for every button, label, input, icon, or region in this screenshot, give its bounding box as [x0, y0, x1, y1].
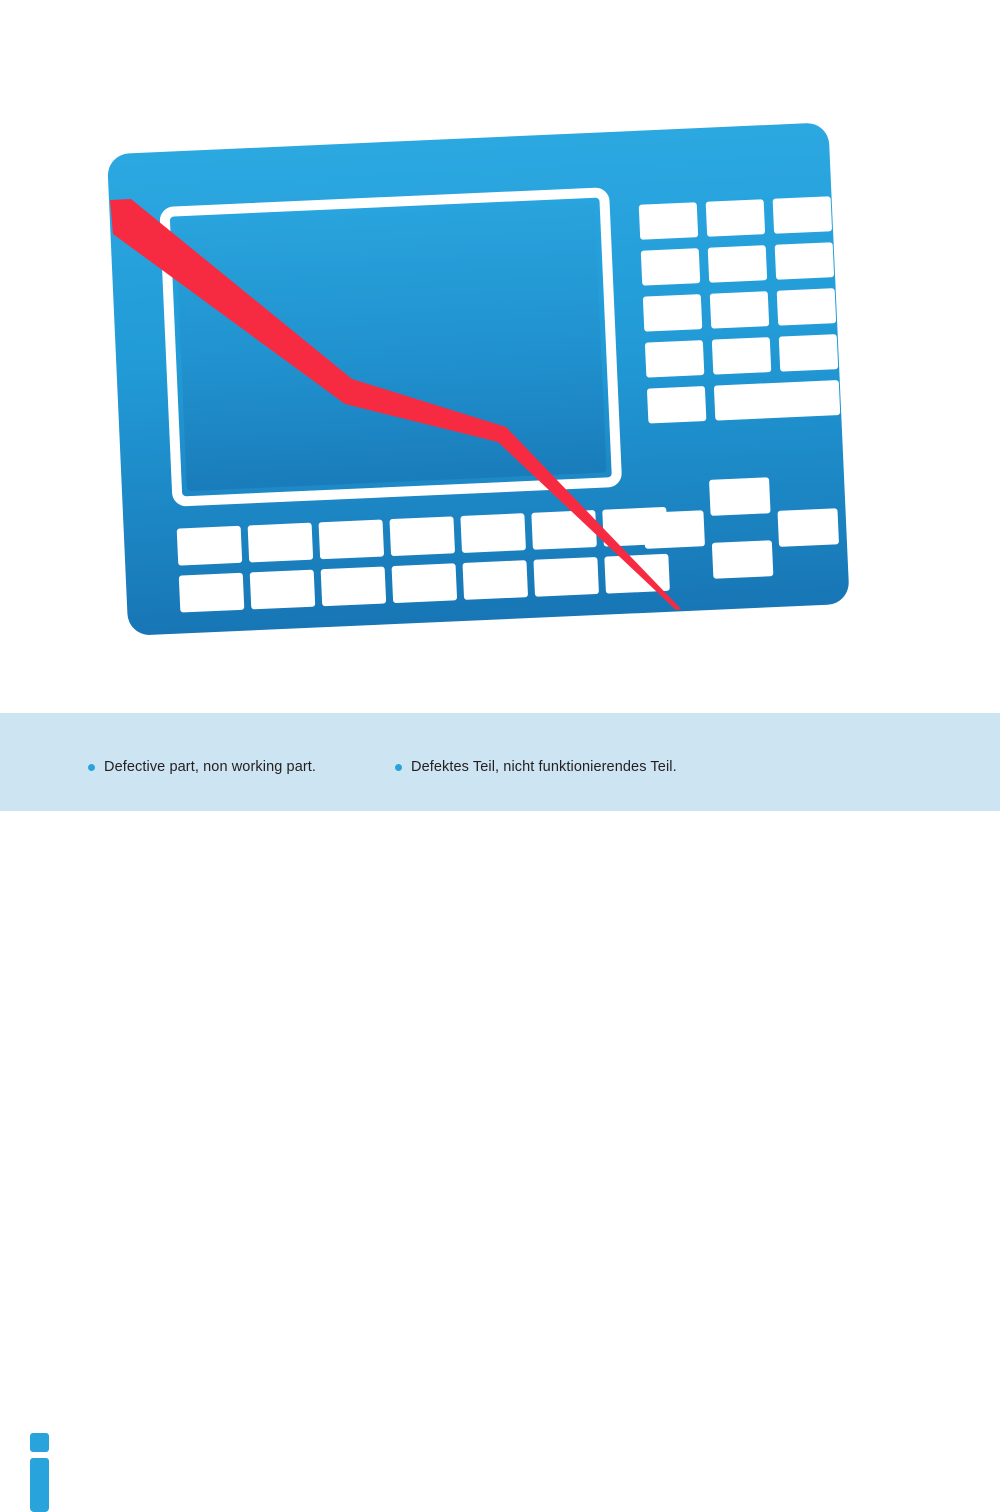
bullet-icon — [395, 764, 402, 771]
device-illustration — [0, 0, 1000, 713]
keyboard-key[interactable] — [389, 516, 455, 556]
note-text-de: Defektes Teil, nicht funktionierendes Te… — [411, 760, 677, 775]
arrow-up-key[interactable] — [709, 477, 771, 516]
arrow-right-key[interactable] — [777, 508, 839, 547]
bullet-icon — [88, 764, 95, 771]
keyboard-key[interactable] — [319, 519, 385, 559]
note-text-en: Defective part, non working part. — [104, 760, 316, 775]
keyboard-key[interactable] — [250, 570, 316, 610]
info-icon-dot — [30, 1433, 49, 1452]
keyboard-key[interactable] — [533, 557, 599, 597]
keyboard-key[interactable] — [177, 526, 243, 566]
keypad-key[interactable] — [645, 340, 704, 378]
keypad-key[interactable] — [773, 196, 832, 234]
note-item-en: Defective part, non working part. — [88, 760, 316, 775]
keypad-key[interactable] — [710, 291, 769, 329]
keyboard-key[interactable] — [248, 523, 314, 563]
keypad-key-wide[interactable] — [714, 380, 840, 421]
keypad-key-small[interactable] — [647, 386, 706, 424]
keypad-key[interactable] — [706, 199, 765, 237]
screen-display — [175, 203, 607, 491]
keyboard-key[interactable] — [462, 560, 528, 600]
note-item-de: Defektes Teil, nicht funktionierendes Te… — [395, 760, 677, 775]
arrow-left-key[interactable] — [643, 510, 705, 549]
keyboard-key[interactable] — [460, 513, 526, 553]
keypad-key[interactable] — [777, 288, 836, 326]
arrow-down-key[interactable] — [712, 540, 774, 579]
illustration-stage — [0, 0, 1000, 713]
info-icon — [27, 1430, 49, 1512]
keypad-key[interactable] — [708, 245, 767, 283]
keypad-key[interactable] — [643, 294, 702, 332]
note-list: Defective part, non working part. Defekt… — [0, 713, 1000, 811]
keypad-key[interactable] — [775, 242, 834, 280]
numeric-keypad[interactable] — [639, 196, 841, 423]
keyboard-key[interactable] — [321, 566, 387, 606]
keypad-key[interactable] — [779, 334, 838, 372]
keypad-key[interactable] — [712, 337, 771, 375]
keyboard-key[interactable] — [392, 563, 458, 603]
keypad-key[interactable] — [639, 202, 698, 240]
note-bar: Defective part, non working part. Defekt… — [0, 713, 1000, 811]
keyboard-key[interactable] — [179, 573, 245, 613]
device-body-group — [107, 122, 850, 636]
keypad-key[interactable] — [641, 248, 700, 286]
info-icon-stem — [30, 1458, 49, 1512]
